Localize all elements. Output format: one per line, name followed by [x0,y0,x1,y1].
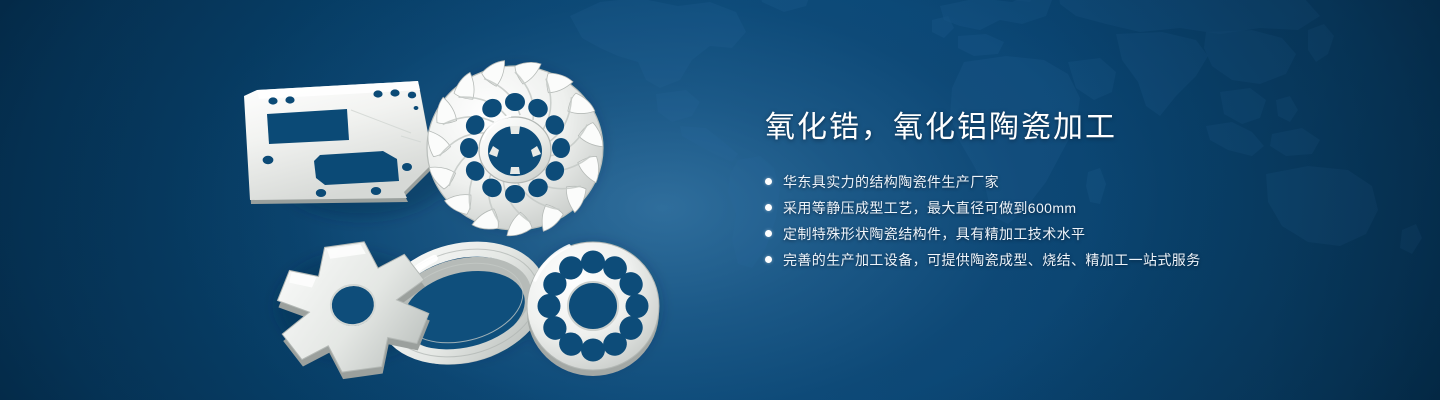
bullet-text: 完善的生产加工设备，可提供陶瓷成型、烧结、精加工一站式服务 [783,250,1201,270]
ceramic-impeller-vaned-disc [427,59,604,237]
promo-banner: 氧化锆，氧化铝陶瓷加工 华东具实力的结构陶瓷件生产厂家 采用等静压成型工艺，最大… [0,0,1440,400]
feature-bullet-list: 华东具实力的结构陶瓷件生产厂家 采用等静压成型工艺，最大直径可做到600mm 定… [765,170,1385,271]
bullet-dot-icon [765,178,772,185]
ceramic-plate-with-cutouts [244,81,431,204]
bullet-text: 采用等静压成型工艺，最大直径可做到600mm [783,198,1076,218]
ceramic-perforated-ring-disc [527,242,659,376]
bullet-dot-icon [765,256,772,263]
ceramic-products-photo [215,38,715,388]
bullet-dot-icon [765,230,772,237]
list-item: 完善的生产加工设备，可提供陶瓷成型、烧结、精加工一站式服务 [765,248,1385,271]
list-item: 华东具实力的结构陶瓷件生产厂家 [765,170,1385,193]
banner-text-column: 氧化锆，氧化铝陶瓷加工 华东具实力的结构陶瓷件生产厂家 采用等静压成型工艺，最大… [765,108,1385,274]
bullet-text: 定制特殊形状陶瓷结构件，具有精加工技术水平 [783,224,1085,244]
list-item: 定制特殊形状陶瓷结构件，具有精加工技术水平 [765,222,1385,245]
bullet-dot-icon [765,204,772,211]
page-title: 氧化锆，氧化铝陶瓷加工 [765,108,1385,148]
list-item: 采用等静压成型工艺，最大直径可做到600mm [765,196,1385,219]
bullet-text: 华东具实力的结构陶瓷件生产厂家 [783,172,999,192]
ceramic-cross-shaped-part [271,234,436,386]
